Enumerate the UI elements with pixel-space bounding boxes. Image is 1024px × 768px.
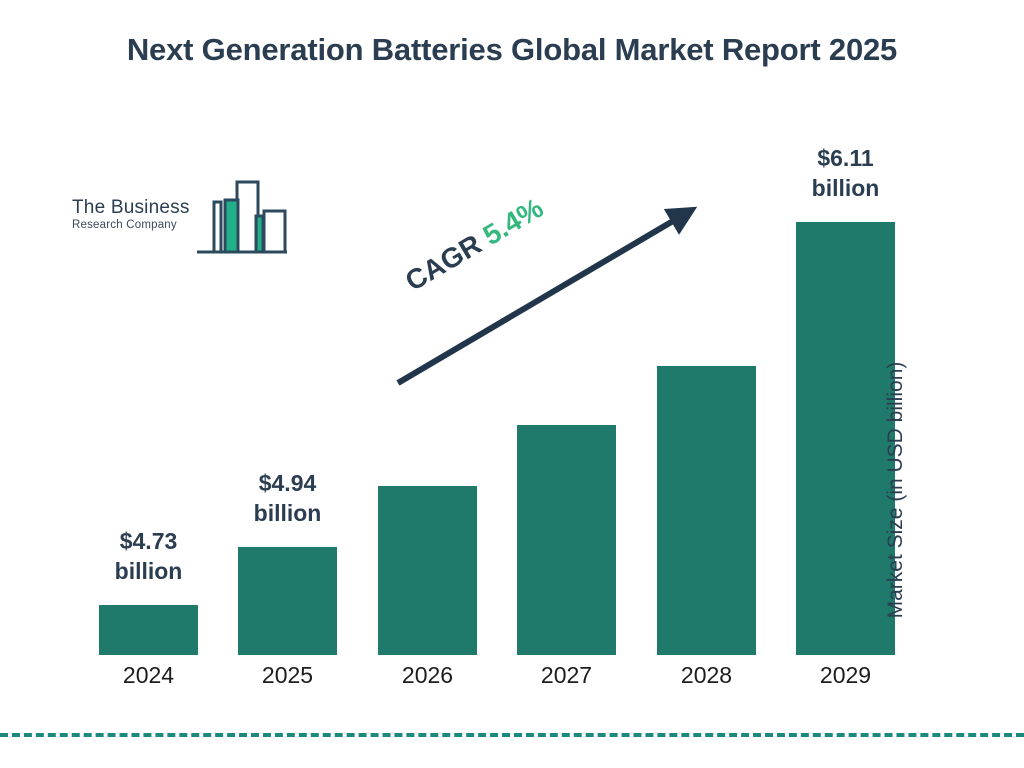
bar-value-label-2024: $4.73billion (77, 527, 220, 587)
x-axis-tick-2027: 2027 (497, 662, 636, 689)
x-axis-tick-2026: 2026 (358, 662, 497, 689)
bar-value-label-2029: $6.11billion (774, 144, 917, 204)
bar-2026[interactable] (378, 486, 477, 655)
bar-value-unit: billion (216, 499, 359, 529)
x-axis-tick-2029: 2029 (776, 662, 915, 689)
bar-2028[interactable] (657, 366, 756, 655)
x-axis-tick-2024: 2024 (79, 662, 218, 689)
footer-divider (0, 733, 1024, 737)
bar-2027[interactable] (517, 425, 616, 655)
bar-value-unit: billion (774, 174, 917, 204)
bar-chart-plot-area: $4.73billion2024$4.94billion202520262027… (0, 0, 1024, 768)
bar-value-amount: $4.73 (77, 527, 220, 557)
bar-2029[interactable] (796, 222, 895, 655)
bar-2025[interactable] (238, 547, 337, 655)
x-axis-tick-2028: 2028 (637, 662, 776, 689)
bar-value-label-2025: $4.94billion (216, 469, 359, 529)
chart-canvas: Next Generation Batteries Global Market … (0, 0, 1024, 768)
bar-value-amount: $4.94 (216, 469, 359, 499)
bar-value-amount: $6.11 (774, 144, 917, 174)
bar-value-unit: billion (77, 557, 220, 587)
x-axis-tick-2025: 2025 (218, 662, 357, 689)
bar-2024[interactable] (99, 605, 198, 655)
y-axis-title: Market Size (in USD billion) (884, 330, 908, 650)
